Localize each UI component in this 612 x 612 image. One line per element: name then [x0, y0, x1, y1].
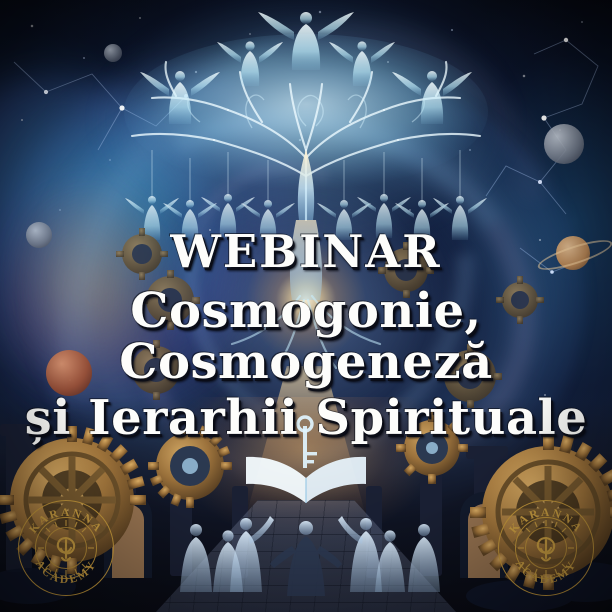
headline-block: WEBINAR Cosmogonie, Cosmogeneză și Ierar… [0, 228, 612, 444]
karanna-academy-seal-right: KARANNA ACADEMY [498, 500, 594, 596]
title-line-1: Cosmogonie, Cosmogeneză [0, 286, 612, 388]
triskelion-symbol [538, 538, 554, 561]
triskelion-symbol [58, 538, 74, 561]
title-line-2: și Ierarhii Spirituale [0, 393, 612, 444]
eyebrow-webinar: WEBINAR [0, 228, 612, 276]
karanna-academy-seal-left: KARANNA ACADEMY [18, 500, 114, 596]
webinar-poster: WEBINAR Cosmogonie, Cosmogeneză și Ierar… [0, 0, 612, 612]
